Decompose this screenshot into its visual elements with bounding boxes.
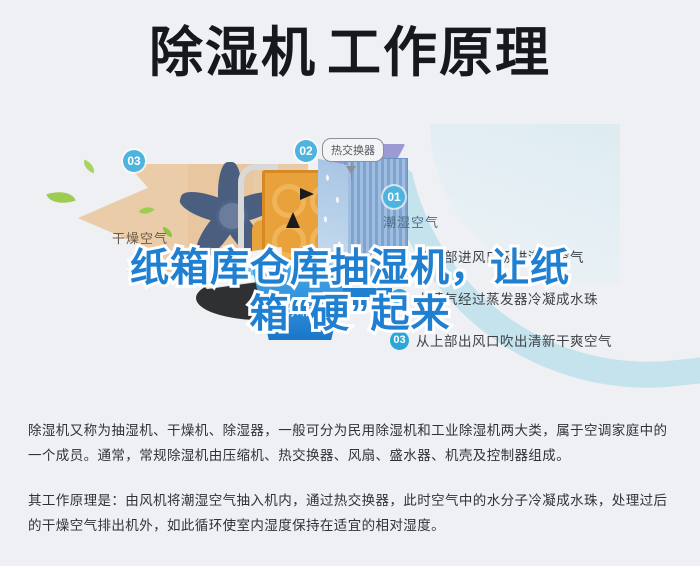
badge-01: 01 xyxy=(383,186,405,208)
infographic-page: 除湿机工作原理 干燥空气 xyxy=(0,0,700,566)
page-title-part2: 工作原理 xyxy=(327,23,551,83)
article-paragraph-1: 除湿机又称为抽湿机、干燥机、除湿器，一般可分为民用除湿机和工业除湿机两大类，属于… xyxy=(28,418,676,468)
humid-air-label: 潮湿空气 xyxy=(383,212,439,231)
water-droplet-icon xyxy=(326,175,329,182)
water-droplet-icon xyxy=(324,216,327,223)
leaf-icon xyxy=(81,159,97,173)
overlay-line-2: 箱“硬”起来 xyxy=(0,292,700,338)
leaf-icon xyxy=(46,186,75,208)
water-droplet-icon xyxy=(336,197,339,204)
page-title: 除湿机工作原理 xyxy=(0,22,700,84)
heat-exchanger-callout: 热交换器 xyxy=(322,138,384,162)
badge-02: 02 xyxy=(295,140,317,162)
overlay-line-1: 纸箱库仓库抽湿机，让纸 xyxy=(0,246,700,292)
airflow-right-arrow-icon xyxy=(300,188,314,200)
page-title-part1: 除湿机 xyxy=(149,23,317,83)
badge-03: 03 xyxy=(123,150,145,172)
article-body: 除湿机又称为抽湿机、干燥机、除湿器，一般可分为民用除湿机和工业除湿机两大类，属于… xyxy=(28,418,676,558)
overlay-headline: 纸箱库仓库抽湿机，让纸 箱“硬”起来 xyxy=(0,246,700,338)
callout-pointer-icon xyxy=(346,166,356,174)
article-paragraph-2: 其工作原理是：由风机将潮湿空气抽入机内，通过热交换器，此时空气中的水分子冷凝成水… xyxy=(28,488,676,538)
dry-air-label: 干燥空气 xyxy=(112,228,168,247)
airflow-up-arrow-icon xyxy=(286,212,300,228)
